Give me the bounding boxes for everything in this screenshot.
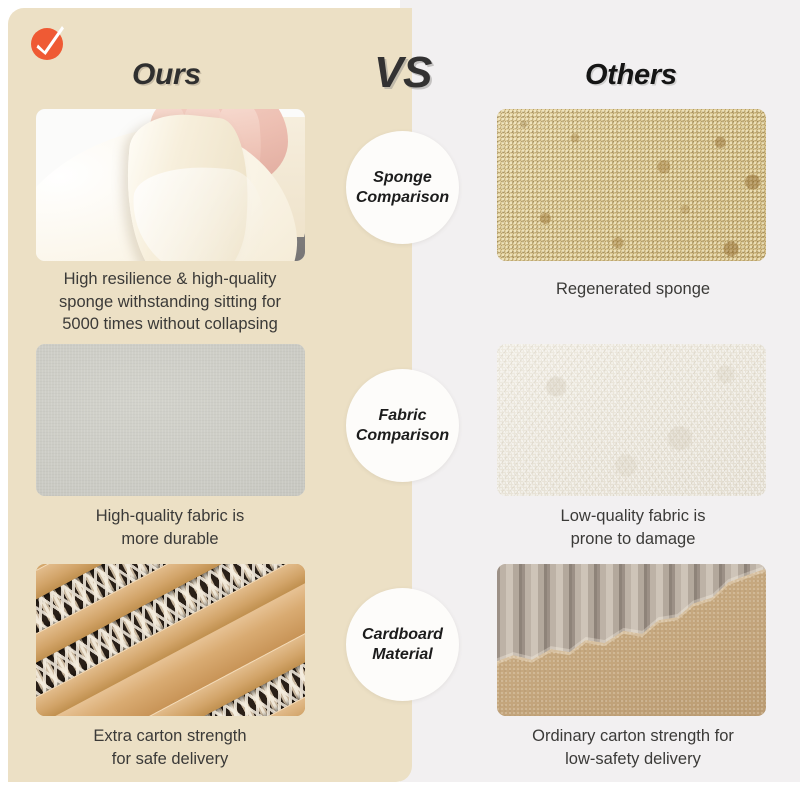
caption-line: Ordinary carton strength for bbox=[483, 725, 783, 748]
ours-heading: Ours bbox=[132, 58, 201, 92]
comparison-infographic: Ours VS Others High resilience & high-qu… bbox=[0, 0, 800, 800]
caption-line: for safe delivery bbox=[20, 748, 320, 771]
topic-badge-line1: Fabric bbox=[378, 406, 426, 426]
ours-cardboard-caption: Extra carton strength for safe delivery bbox=[20, 725, 320, 770]
others-fabric-caption: Low-quality fabric is prone to damage bbox=[483, 505, 783, 550]
topic-badge-cardboard: Cardboard Material bbox=[346, 588, 459, 701]
check-circle-icon bbox=[29, 24, 67, 62]
caption-line: 5000 times without collapsing bbox=[20, 313, 320, 336]
caption-line: prone to damage bbox=[483, 528, 783, 551]
others-sponge-caption: Regenerated sponge bbox=[483, 278, 783, 301]
topic-badge-line1: Sponge bbox=[373, 168, 432, 188]
caption-line: low-safety delivery bbox=[483, 748, 783, 771]
ours-fabric-image bbox=[36, 344, 305, 496]
topic-badge-fabric: Fabric Comparison bbox=[346, 369, 459, 482]
caption-line: High-quality fabric is bbox=[20, 505, 320, 528]
others-fabric-image bbox=[497, 344, 766, 496]
others-cardboard-image bbox=[497, 564, 766, 716]
caption-line: Low-quality fabric is bbox=[483, 505, 783, 528]
topic-badge-line2: Comparison bbox=[356, 188, 449, 208]
vs-heading: VS bbox=[374, 48, 432, 98]
others-sponge-image bbox=[497, 109, 766, 261]
ours-sponge-image bbox=[36, 109, 305, 261]
ours-cardboard-image bbox=[36, 564, 305, 716]
topic-badge-line2: Comparison bbox=[356, 426, 449, 446]
topic-badge-line1: Cardboard bbox=[362, 625, 443, 645]
caption-line: sponge withstanding sitting for bbox=[20, 291, 320, 314]
others-cardboard-caption: Ordinary carton strength for low-safety … bbox=[483, 725, 783, 770]
others-heading: Others bbox=[585, 59, 677, 92]
topic-badge-sponge: Sponge Comparison bbox=[346, 131, 459, 244]
caption-line: Regenerated sponge bbox=[483, 278, 783, 301]
ours-sponge-caption: High resilience & high-quality sponge wi… bbox=[20, 268, 320, 336]
caption-line: Extra carton strength bbox=[20, 725, 320, 748]
caption-line: more durable bbox=[20, 528, 320, 551]
topic-badge-line2: Material bbox=[372, 645, 432, 665]
caption-line: High resilience & high-quality bbox=[20, 268, 320, 291]
ours-fabric-caption: High-quality fabric is more durable bbox=[20, 505, 320, 550]
